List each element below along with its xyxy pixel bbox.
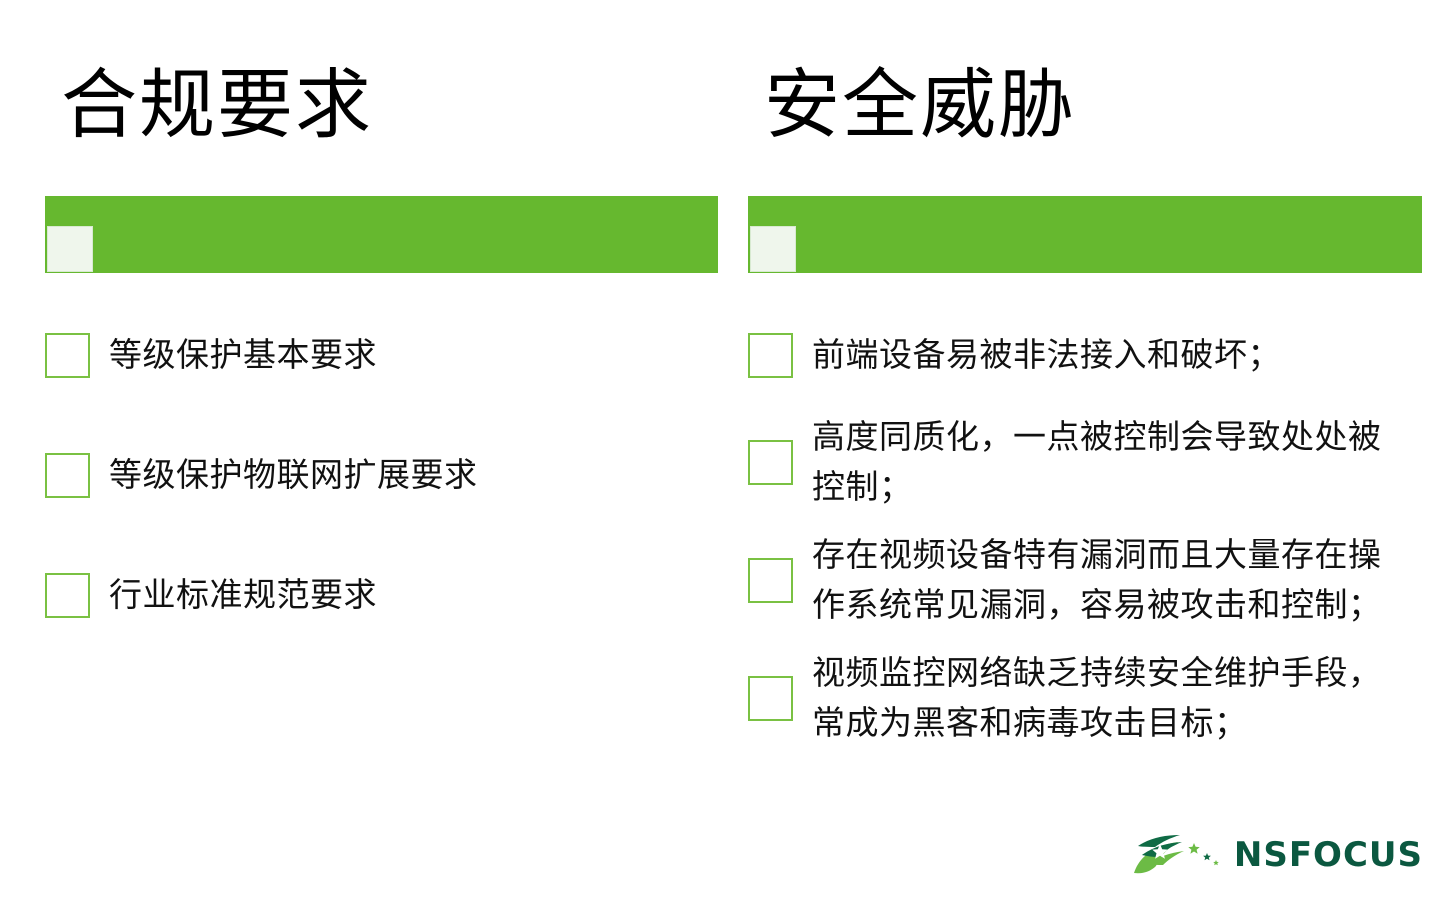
list-item[interactable]: 视频监控网络缺乏持续安全维护手段，常成为黑客和病毒攻击目标； bbox=[748, 648, 1422, 748]
list-item-label: 行业标准规范要求 bbox=[109, 570, 377, 620]
band-chip-right bbox=[750, 226, 796, 272]
section-band-right bbox=[748, 196, 1422, 273]
checklist-compliance: 等级保护基本要求 等级保护物联网扩展要求 行业标准规范要求 bbox=[45, 330, 718, 690]
checkbox-icon[interactable] bbox=[748, 440, 793, 485]
section-band-left bbox=[45, 196, 718, 273]
page-title-left: 合规要求 bbox=[61, 66, 373, 146]
checkbox-icon[interactable] bbox=[748, 676, 793, 721]
list-item[interactable]: 等级保护物联网扩展要求 bbox=[45, 450, 718, 500]
checkbox-icon[interactable] bbox=[748, 333, 793, 378]
list-item[interactable]: 存在视频设备特有漏洞而且大量存在操作系统常见漏洞，容易被攻击和控制； bbox=[748, 530, 1422, 630]
nsfocus-swoosh-icon bbox=[1130, 833, 1226, 877]
list-item[interactable]: 等级保护基本要求 bbox=[45, 330, 718, 380]
page-title-right: 安全威胁 bbox=[764, 66, 1076, 146]
list-item-label: 等级保护基本要求 bbox=[109, 330, 377, 380]
band-chip-left bbox=[47, 226, 93, 272]
list-item-label: 等级保护物联网扩展要求 bbox=[109, 450, 478, 500]
list-item-label: 高度同质化，一点被控制会导致处处被控制； bbox=[812, 412, 1412, 512]
logo-wordmark: NSFOCUS bbox=[1234, 835, 1423, 875]
brand-logo: NSFOCUS bbox=[1130, 832, 1423, 878]
list-item-label: 视频监控网络缺乏持续安全维护手段，常成为黑客和病毒攻击目标； bbox=[812, 648, 1412, 748]
list-item-label: 存在视频设备特有漏洞而且大量存在操作系统常见漏洞，容易被攻击和控制； bbox=[812, 530, 1412, 630]
checkbox-icon[interactable] bbox=[45, 453, 90, 498]
checklist-threats: 前端设备易被非法接入和破坏； 高度同质化，一点被控制会导致处处被控制； 存在视频… bbox=[748, 330, 1422, 774]
column-compliance: 合规要求 等级保护基本要求 等级保护物联网扩展要求 行业标准规范要求 bbox=[45, 0, 718, 900]
list-item-label: 前端设备易被非法接入和破坏； bbox=[812, 330, 1281, 380]
slide-canvas: 合规要求 等级保护基本要求 等级保护物联网扩展要求 行业标准规范要求 安全威胁 bbox=[0, 0, 1445, 900]
checkbox-icon[interactable] bbox=[748, 558, 793, 603]
list-item[interactable]: 行业标准规范要求 bbox=[45, 570, 718, 620]
list-item[interactable]: 前端设备易被非法接入和破坏； bbox=[748, 330, 1422, 380]
list-item[interactable]: 高度同质化，一点被控制会导致处处被控制； bbox=[748, 412, 1422, 512]
checkbox-icon[interactable] bbox=[45, 333, 90, 378]
checkbox-icon[interactable] bbox=[45, 573, 90, 618]
column-threats: 安全威胁 前端设备易被非法接入和破坏； 高度同质化，一点被控制会导致处处被控制；… bbox=[748, 0, 1422, 900]
